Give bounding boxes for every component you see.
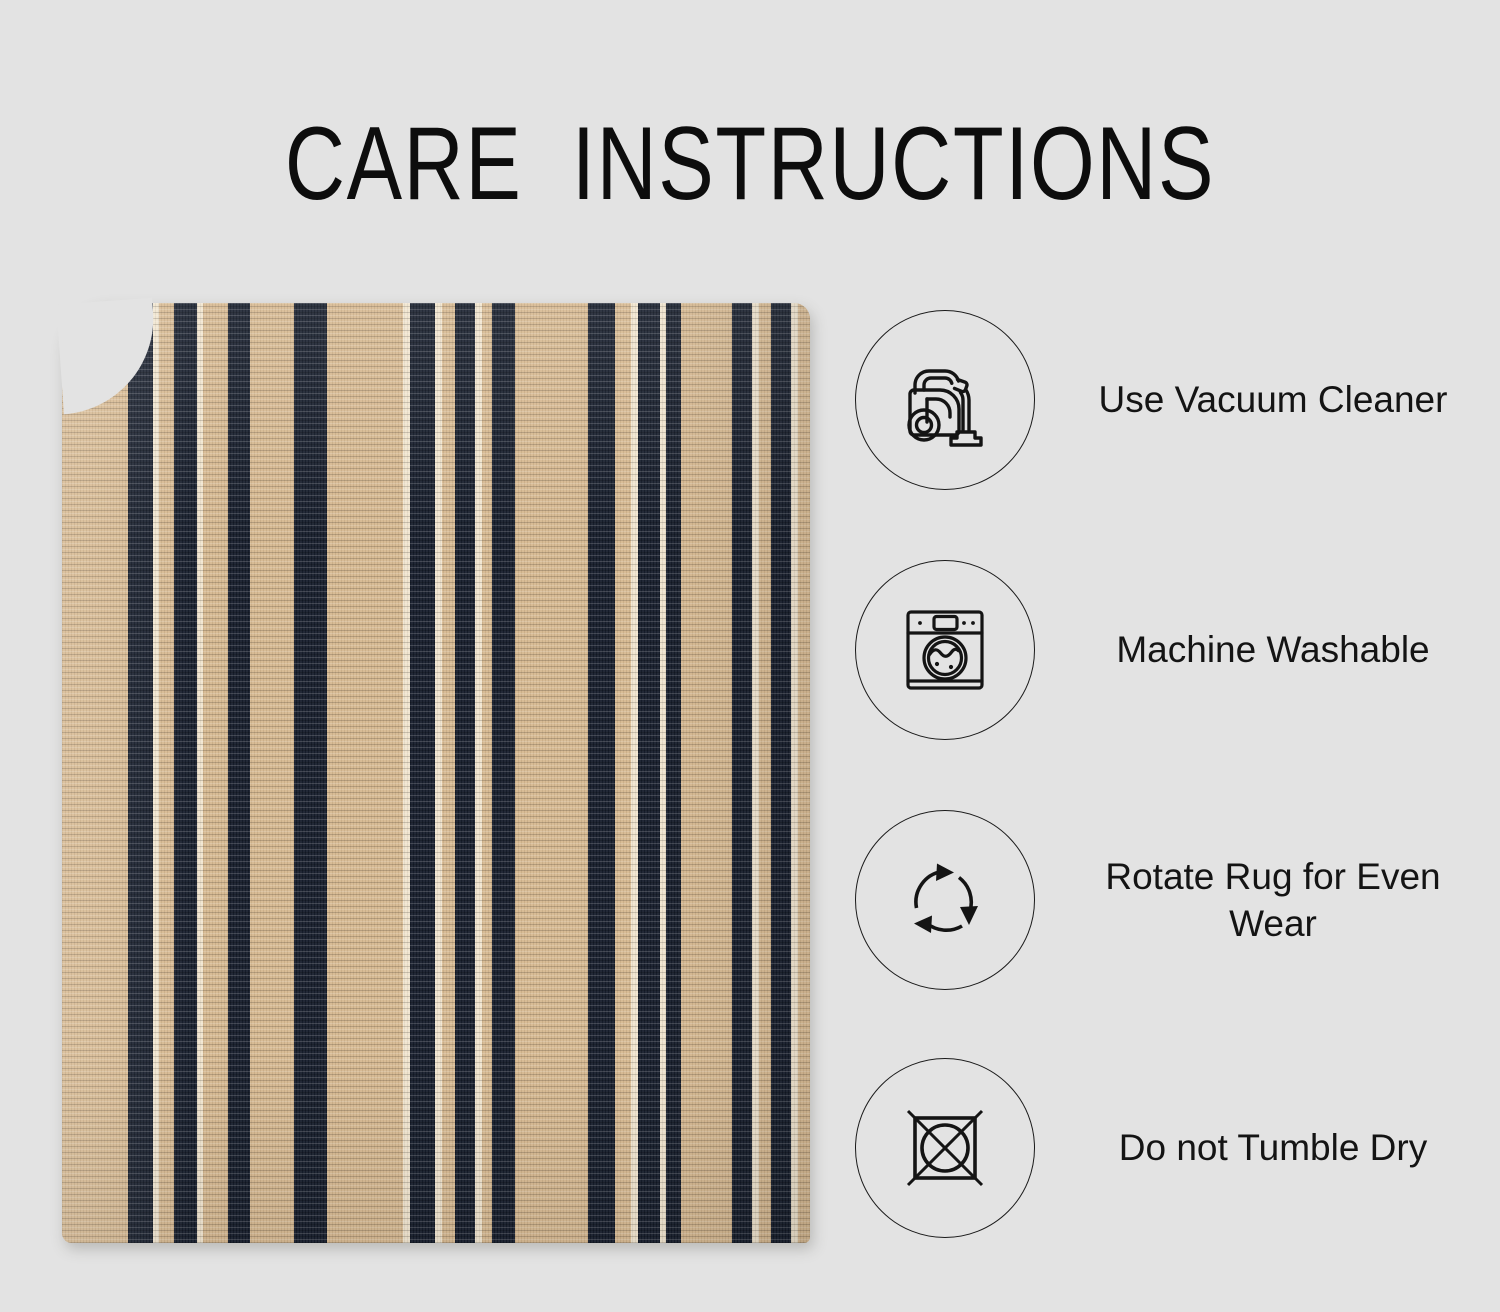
instruction-label: Do not Tumble Dry	[1079, 1124, 1475, 1171]
rug-stripe	[615, 303, 631, 1243]
rug-stripe	[681, 303, 732, 1243]
rug-stripe	[771, 303, 790, 1243]
instruction-label: Use Vacuum Cleaner	[1079, 376, 1475, 423]
rug-stripe	[455, 303, 474, 1243]
rug-stripe	[588, 303, 615, 1243]
do-not-tumble-dry-icon	[855, 1058, 1035, 1238]
rug-stripe	[294, 303, 327, 1243]
rug-surface	[62, 303, 810, 1243]
rug-stripe	[228, 303, 250, 1243]
instruction-item-vacuum: Use Vacuum Cleaner	[855, 300, 1475, 500]
rug-stripe	[159, 303, 174, 1243]
rug-stripe	[475, 303, 482, 1243]
rug-stripe	[666, 303, 681, 1243]
care-instructions-page: CARE INSTRUCTIONS	[0, 0, 1500, 1312]
rug-stripe	[410, 303, 435, 1243]
rug-stripe	[752, 303, 759, 1243]
rug-stripe	[62, 303, 128, 1243]
rug-stripe	[203, 303, 228, 1243]
rug-stripe	[798, 303, 810, 1243]
rug-stripe	[174, 303, 196, 1243]
instructions-list: Use Vacuum Cleaner	[855, 300, 1475, 1300]
instruction-item-machine-washable: Machine Washable	[855, 550, 1475, 750]
instruction-label: Rotate Rug for Even Wear	[1079, 853, 1475, 948]
vacuum-cleaner-icon	[855, 310, 1035, 490]
rug-stripe	[631, 303, 638, 1243]
rug-stripe	[250, 303, 293, 1243]
rug-stripe	[515, 303, 588, 1243]
rug-stripe	[732, 303, 751, 1243]
rug-stripe-pattern	[62, 303, 810, 1243]
rug-stripe	[403, 303, 410, 1243]
rug-stripe	[638, 303, 660, 1243]
rotate-arrows-icon	[855, 810, 1035, 990]
page-title: CARE INSTRUCTIONS	[150, 112, 1350, 216]
instruction-item-rotate-rug: Rotate Rug for Even Wear	[855, 800, 1475, 1000]
instruction-item-no-tumble-dry: Do not Tumble Dry	[855, 1048, 1475, 1248]
rug-stripe	[791, 303, 798, 1243]
rug-stripe	[435, 303, 442, 1243]
washing-machine-icon	[855, 560, 1035, 740]
rug-stripe	[759, 303, 771, 1243]
rug-stripe	[128, 303, 153, 1243]
rug-stripe	[442, 303, 455, 1243]
instruction-label: Machine Washable	[1079, 626, 1475, 673]
rug-stripe	[327, 303, 403, 1243]
rug-product-image	[62, 303, 810, 1243]
rug-stripe	[482, 303, 492, 1243]
rug-stripe	[492, 303, 514, 1243]
